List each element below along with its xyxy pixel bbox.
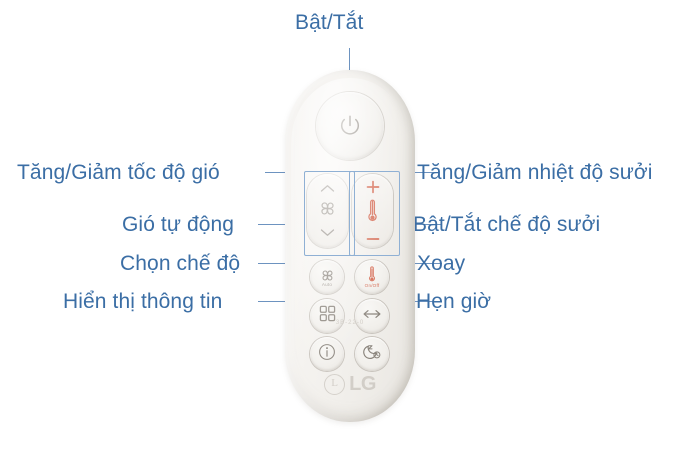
label-heat-temp: Tăng/Giảm nhiệt độ sưởi	[417, 162, 653, 183]
highlight-temp-box	[349, 171, 400, 256]
lg-logo-mark: L	[324, 374, 345, 395]
auto-fan-button[interactable]: Auto	[310, 260, 344, 294]
label-heater-toggle: Bật/Tắt chế độ sưởi	[413, 214, 600, 235]
label-auto-fan: Gió tự động	[122, 214, 234, 235]
label-power: Bật/Tắt	[295, 12, 363, 33]
swing-button[interactable]	[355, 299, 389, 333]
mode-button[interactable]	[310, 299, 344, 333]
timer-button[interactable]	[355, 337, 389, 371]
thermometer-onoff-icon: On/Off	[365, 266, 380, 289]
power-button[interactable]	[316, 92, 384, 160]
info-icon	[318, 343, 336, 366]
illustration-canvas: Bật/Tắt Tăng/Giảm tốc độ gió Tăng/Giảm n…	[0, 0, 700, 467]
label-info: Hiển thị thông tin	[63, 291, 222, 312]
info-button[interactable]	[310, 337, 344, 371]
label-fan-speed: Tăng/Giảm tốc độ gió	[17, 162, 220, 183]
lg-logo-text: LG	[349, 373, 376, 396]
fan-auto-icon: Auto	[319, 267, 336, 288]
auto-caption: Auto	[322, 283, 332, 288]
heater-toggle-button[interactable]: On/Off	[355, 260, 389, 294]
model-code: 3B-22-0	[285, 320, 415, 326]
label-mode: Chọn chế độ	[120, 253, 240, 274]
label-timer: Hẹn giờ	[416, 291, 491, 312]
highlight-fan-speed-box	[304, 171, 355, 256]
lg-logo: L LG	[285, 373, 415, 396]
label-swing: Xoay	[417, 253, 465, 274]
power-icon	[337, 113, 363, 139]
moon-timer-icon	[362, 342, 382, 366]
onoff-caption: On/Off	[365, 284, 380, 289]
